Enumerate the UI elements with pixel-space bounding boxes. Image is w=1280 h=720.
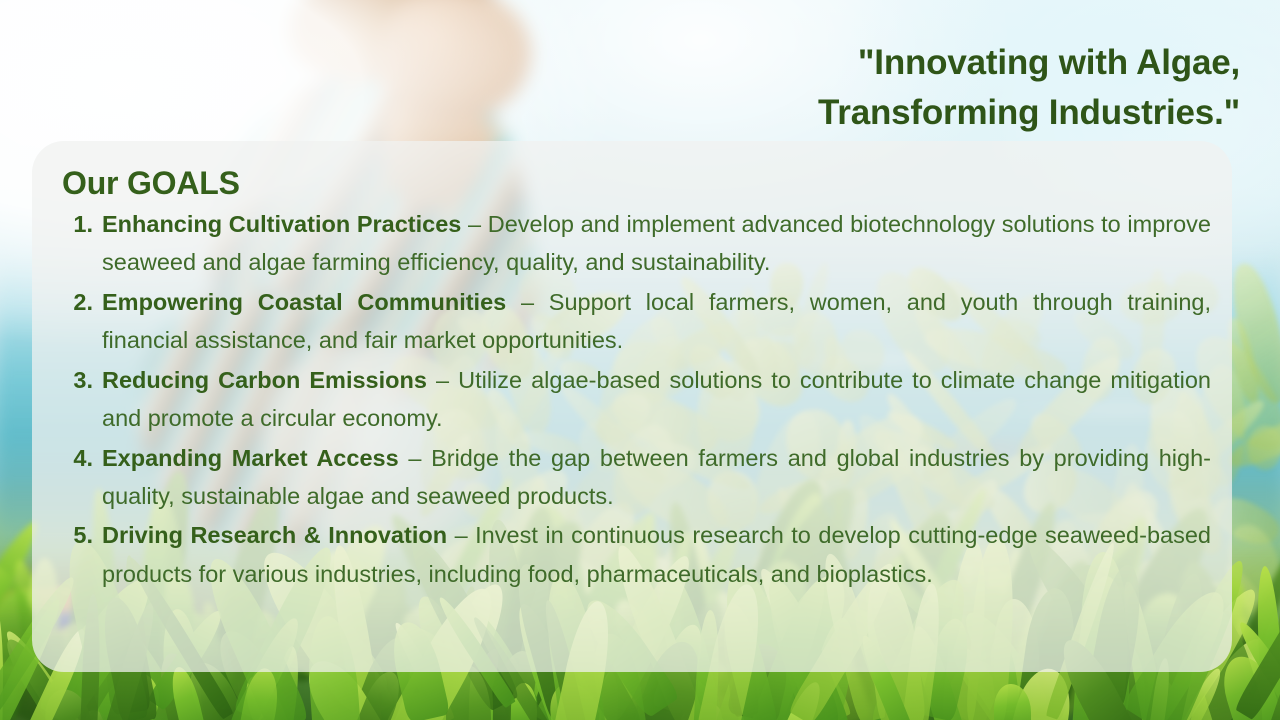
goal-item: 4.Expanding Market Access – Bridge the g… — [62, 439, 1214, 516]
goals-card-title: Our GOALS — [62, 167, 1214, 199]
goal-separator: – — [399, 445, 431, 471]
goal-item: 1.Enhancing Cultivation Practices – Deve… — [62, 205, 1214, 282]
goal-separator: – — [461, 211, 487, 237]
goal-number: 2. — [62, 283, 93, 321]
goal-term: Driving Research & Innovation — [102, 522, 447, 548]
goal-item: 3.Reducing Carbon Emissions – Utilize al… — [62, 361, 1214, 438]
goal-term: Enhancing Cultivation Practices — [102, 211, 461, 237]
goal-separator: – — [506, 289, 549, 315]
slide-root: "Innovating with Algae, Transforming Ind… — [0, 0, 1280, 720]
goal-term: Expanding Market Access — [102, 445, 399, 471]
goal-term: Empowering Coastal Communities — [102, 289, 506, 315]
goal-number: 1. — [62, 205, 93, 243]
goal-term: Reducing Carbon Emissions — [102, 367, 427, 393]
page-title: "Innovating with Algae, Transforming Ind… — [520, 38, 1240, 137]
goal-item: 2.Empowering Coastal Communities – Suppo… — [62, 283, 1214, 360]
goal-number: 4. — [62, 439, 93, 477]
goal-number: 5. — [62, 516, 93, 554]
goal-separator: – — [427, 367, 458, 393]
goal-separator: – — [447, 522, 475, 548]
goals-card: Our GOALS 1.Enhancing Cultivation Practi… — [32, 141, 1232, 672]
goals-list: 1.Enhancing Cultivation Practices – Deve… — [62, 205, 1214, 593]
goal-item: 5.Driving Research & Innovation – Invest… — [62, 516, 1214, 593]
goal-number: 3. — [62, 361, 93, 399]
